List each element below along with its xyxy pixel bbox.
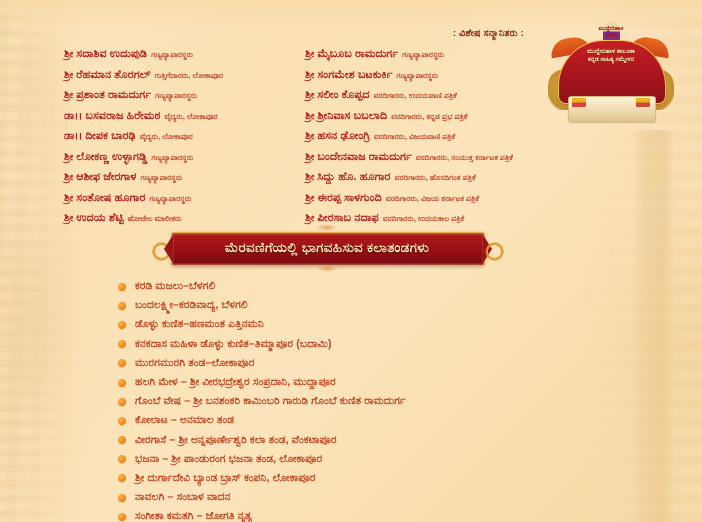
troupe-label: ಹಲಗಿ ಮೇಳ – ಶ್ರೀ ವೀರಭದ್ರೇಶ್ವರ ಸಂಪ್ರದಾನಿ, … bbox=[135, 376, 336, 389]
honouree-row: ಡಾ।।ದೀಪಕ ಬಾರಢಿವೈದ್ಯರು, ಲೋಕಾಪೂರ bbox=[64, 130, 297, 151]
bullet-icon bbox=[118, 474, 126, 482]
section-banner-title: ಮೆರವಣಿಗೆಯಲ್ಲಿ ಭಾಗವಹಿಸುವ ಕಲಾತಂಡಗಳು bbox=[171, 232, 483, 264]
troupe-item: ವೀರಗಾಸೆ – ಶ್ರೀ ಅನ್ನಪೂರ್ಣೇಶ್ವರಿ ಕಲಾ ತಂಡ, … bbox=[118, 431, 588, 450]
troupe-item: ಬಂದಲಕ್ಷ್ಮೀ–ಕರಡಿವಾದ್ಯ, ಬೆಳಗಲಿ bbox=[118, 296, 588, 315]
honouree-row: ಶ್ರೀಸಂತೋಷ ಹೂಗಾರಗಣ್ಯವ್ಯಾಪಾರಸ್ಥರು bbox=[64, 192, 297, 213]
honouree-name: ಸಂತೋಷ ಹೂಗಾರ bbox=[76, 192, 145, 205]
troupe-label: ವೀರಗಾಸೆ – ಶ್ರೀ ಅನ್ನಪೂರ್ಣೇಶ್ವರಿ ಕಲಾ ತಂಡ, … bbox=[135, 434, 337, 447]
troupe-item: ನಾವಲಗಿ – ಸಂಬಾಳ ವಾದನ bbox=[118, 488, 588, 507]
honouree-row: ಶ್ರೀರೆಹಮಾನ ತೊರಗಲ್ಗುತ್ತಿಗೆದಾರರು, ಲೋಕಾಪೂರ bbox=[64, 69, 297, 90]
troupes-list: ಕರಡಿ ಮಜಲು–ಬೆಳಗಲಿಬಂದಲಕ್ಷ್ಮೀ–ಕರಡಿವಾದ್ಯ, ಬೆ… bbox=[118, 277, 588, 522]
honouree-row: ಶ್ರೀಸಿದ್ದು ಹೊ. ಹೂಗಾರವರದಿಗಾರರು, ಹೊಸದಿಗಂತ … bbox=[305, 171, 594, 192]
troupe-label: ಗೊಂಬೆ ವೇಷ – ಶ್ರೀ ಬನಶಂಕರಿ ಕಾಮಿಂಬರಿ ಗಾರುಡಿ… bbox=[135, 395, 406, 408]
honouree-name: ಬಂದೇನವಾಜ ರಾಮದುರ್ಗ bbox=[317, 151, 412, 164]
honouree-prefix: ಶ್ರೀ bbox=[64, 151, 73, 164]
troupe-item: ಕನಕದಾಸ ಮಹಿಳಾ ಡೊಳ್ಳು ಕುಣಿತ–ತಿಮ್ಮಾಪೂರ (ಬದಾ… bbox=[118, 335, 588, 354]
honouree-prefix: ಡಾ।। bbox=[64, 110, 82, 123]
honouree-name: ಹಸನ ಢೋಂಗ್ರಿ bbox=[317, 130, 370, 143]
honouree-name: ಬಸವರಾಜ ಹಿರೇಮಠ bbox=[85, 110, 160, 123]
honouree-row: ಶ್ರೀಈರಪ್ಪ ಸಾಳಗುಂದಿವರದಿಗಾರರು, ವಿಜಯ ಕರ್ನಾಟ… bbox=[305, 192, 594, 213]
honouree-designation: ಗಣ್ಯವ್ಯಾಪಾರಸ್ಥರು bbox=[396, 71, 438, 81]
side-panel-primary-text: ಮುದ್ದೇಬಿಹಾಳ ತಾಲೂಕಾ ಕನ್ನಡ ಸಾಹಿತ್ಯ ಸಮ್ಮೇಳನ… bbox=[680, 506, 696, 522]
honouree-row: ಶ್ರೀಪ್ರಶಾಂತ ರಾಮದುರ್ಗಗಣ್ಯವ್ಯಾಪಾರಸ್ಥರು bbox=[64, 89, 297, 110]
honouree-designation: ಗಣ್ಯವ್ಯಾಪಾರಸ್ಥರು bbox=[151, 50, 193, 60]
troupe-item: ಡೊಳ್ಳು ಕುಣಿತ–ಹಣಮಂತ ಎತ್ತಿನಮನಿ bbox=[118, 315, 588, 334]
troupe-item: ಸಂಗೀತಾ ಕಮತಗಿ – ಜೋಗತಿ ನೃತ್ಯ bbox=[118, 507, 588, 522]
honouree-prefix: ಶ್ರೀ bbox=[64, 69, 73, 82]
honouree-prefix: ಶ್ರೀ bbox=[305, 110, 314, 123]
flag-right-icon bbox=[636, 98, 650, 107]
troupe-label: ಕರಡಿ ಮಜಲು–ಬೆಳಗಲಿ bbox=[135, 280, 215, 293]
bullet-icon bbox=[118, 436, 126, 444]
honouree-prefix: ಶ್ರೀ bbox=[64, 192, 73, 205]
bullet-icon bbox=[118, 321, 126, 329]
troupe-item: ಮುರಗಮುರಗಿ ತಂಡ–ಲೋಕಾಪೂರ bbox=[118, 354, 588, 373]
honouree-name: ಉದಯ ಶೆಟ್ಟಿ bbox=[76, 212, 123, 225]
honouree-designation: ಗುತ್ತಿಗೆದಾರರು, ಲೋಕಾಪೂರ bbox=[155, 71, 223, 81]
honouree-name: ಪ್ರಶಾಂತ ರಾಮದುರ್ಗ bbox=[76, 89, 151, 102]
honourees-header: : ವಿಶೇಷ ಸನ್ಮಾನಿತರು : bbox=[0, 28, 524, 39]
honouree-row: ಡಾ।।ಬಸವರಾಜ ಹಿರೇಮಠವೈದ್ಯರು, ಲೋಕಾಪೂರ bbox=[64, 110, 297, 131]
bullet-icon bbox=[118, 513, 126, 521]
troupe-item: ಶ್ರೀ ದುರ್ಗಾದೇವಿ ಬ್ಯಾಂಡ ಬ್ರಾಸ್ ಕಂಪನಿ, ಲೋಕ… bbox=[118, 469, 588, 488]
troupe-item: ಕೋಲಾಟ – ಅನಮಾಲ ತಂಡ bbox=[118, 411, 588, 430]
troupe-label: ಬಂದಲಕ್ಷ್ಮೀ–ಕರಡಿವಾದ್ಯ, ಬೆಳಗಲಿ bbox=[135, 299, 248, 312]
honouree-prefix: ಶ್ರೀ bbox=[305, 130, 314, 143]
bullet-icon bbox=[118, 359, 126, 367]
honouree-prefix: ಶ್ರೀ bbox=[64, 89, 73, 102]
troupe-label: ಭಜನಾ – ಶ್ರೀ ಪಾಂಡುರಂಗ ಭಜನಾ ತಂಡ, ಲೋಕಾಪೂರ bbox=[135, 453, 322, 466]
banner-ornament-bottom-icon bbox=[316, 265, 338, 272]
honouree-row: ಶ್ರೀಉದಯ ಶೆಟ್ಟಿಹೋಟೇಲ ಮಾಲೀಕರು bbox=[64, 212, 297, 233]
honouree-name: ಸಿದ್ದು ಹೊ. ಹೂಗಾರ bbox=[317, 171, 390, 184]
side-panel-band bbox=[632, 130, 676, 522]
bullet-icon bbox=[118, 417, 126, 425]
troupe-label: ಸಂಗೀತಾ ಕಮತಗಿ – ಜೋಗತಿ ನೃತ್ಯ bbox=[135, 510, 252, 522]
emblem-year: 2018 bbox=[548, 33, 674, 40]
honouree-name: ಲೋಕಣ್ಣ ಉಳ್ಳಾಗಡ್ಡಿ bbox=[76, 151, 147, 164]
honouree-prefix: ಶ್ರೀ bbox=[64, 171, 73, 184]
troupe-item: ಭಜನಾ – ಶ್ರೀ ಪಾಂಡುರಂಗ ಭಜನಾ ತಂಡ, ಲೋಕಾಪೂರ bbox=[118, 450, 588, 469]
honouree-row: ಶ್ರೀಮೈಬೂಬ ರಾಮದುರ್ಗಗಣ್ಯವ್ಯಾಪಾರಸ್ಥರು bbox=[305, 48, 594, 69]
honouree-designation: ವರದಿಗಾರರು, ಸಂಯುಕ್ತ ಕರ್ನಾಟಕ ಪತ್ರಿಕೆ bbox=[416, 153, 513, 163]
troupe-label: ಮುರಗಮುರಗಿ ತಂಡ–ಲೋಕಾಪೂರ bbox=[135, 357, 255, 370]
honouree-designation: ಹೋಟೇಲ ಮಾಲೀಕರು bbox=[128, 214, 182, 224]
honouree-prefix: ಶ್ರೀ bbox=[305, 69, 314, 82]
section-banner: ಮೆರವಣಿಗೆಯಲ್ಲಿ ಭಾಗವಹಿಸುವ ಕಲಾತಂಡಗಳು bbox=[153, 232, 501, 266]
honouree-prefix: ಶ್ರೀ bbox=[305, 192, 314, 205]
bullet-icon bbox=[118, 455, 126, 463]
honouree-designation: ಗಣ್ಯವ್ಯಾಪಾರಸ್ಥರು bbox=[140, 173, 182, 183]
emblem-scroll-text: ಮುದ್ದೇಬಿಹಾಳ 2018 bbox=[548, 26, 674, 40]
poster-canvas: ಮುದ್ದೇಬಿಹಾಳ ತಾಲೂಕಾ ಕನ್ನಡ ಸಾಹಿತ್ಯ ಸಮ್ಮೇಳನ… bbox=[0, 0, 702, 522]
honouree-designation: ಗಣ್ಯವ್ಯಾಪಾರಸ್ಥರು bbox=[155, 91, 197, 101]
troupe-label: ಕೋಲಾಟ – ಅನಮಾಲ ತಂಡ bbox=[135, 414, 234, 427]
honouree-row: ಶ್ರೀಆಶೀಫ ಜೇರಗಾಳಗಣ್ಯವ್ಯಾಪಾರಸ್ಥರು bbox=[64, 171, 297, 192]
honouree-row: ಶ್ರೀಸದಾಶಿವ ಉದುಪುಡಿಗಣ್ಯವ್ಯಾಪಾರಸ್ಥರು bbox=[64, 48, 297, 69]
honouree-designation: ವರದಿಗಾರರು, ಹೊಸದಿಗಂತ ಪತ್ರಿಕೆ bbox=[395, 173, 476, 183]
honouree-designation: ವರದಿಗಾರರು, ಉದಯಕಾಲ ಪತ್ರಿಕೆ bbox=[383, 214, 464, 224]
bullet-icon bbox=[118, 398, 126, 406]
honouree-prefix: ಶ್ರೀ bbox=[64, 212, 73, 225]
honouree-row: ಶ್ರೀಸಂಗಮೇಶ ಬಟಕುರ್ಕಿಗಣ್ಯವ್ಯಾಪಾರಸ್ಥರು bbox=[305, 69, 594, 90]
honouree-prefix: ಶ್ರೀ bbox=[305, 48, 314, 61]
honouree-prefix: ಶ್ರೀ bbox=[305, 151, 314, 164]
side-panel: ಮುದ್ದೇಬಿಹಾಳ ತಾಲೂಕಾ ಕನ್ನಡ ಸಾಹಿತ್ಯ ಸಮ್ಮೇಳನ… bbox=[598, 130, 702, 522]
troupe-label: ನಾವಲಗಿ – ಸಂಬಾಳ ವಾದನ bbox=[135, 491, 231, 504]
honouree-name: ಮೈಬೂಬ ರಾಮದುರ್ಗ bbox=[317, 48, 398, 61]
banner-ornament-top-icon bbox=[316, 224, 338, 231]
bullet-icon bbox=[118, 494, 126, 502]
honouree-prefix: ಶ್ರೀ bbox=[305, 212, 314, 225]
honouree-designation: ವರದಿಗಾರರು, ವಿಜಯವಾಣಿ ಪತ್ರಿಕೆ bbox=[374, 132, 455, 142]
bullet-icon bbox=[118, 379, 126, 387]
honouree-name: ಆಶೀಫ ಜೇರಗಾಳ bbox=[76, 171, 136, 184]
honouree-designation: ವರದಿಗಾರರು, ಉದಯವಾಣಿ ಪತ್ರಿಕೆ bbox=[374, 91, 457, 101]
honouree-row: ಶ್ರೀಸಲೀಂ ಕೊಪ್ಪದವರದಿಗಾರರು, ಉದಯವಾಣಿ ಪತ್ರಿಕ… bbox=[305, 89, 594, 110]
troupe-item: ಕರಡಿ ಮಜಲು–ಬೆಳಗಲಿ bbox=[118, 277, 588, 296]
banner-notch-right bbox=[483, 235, 492, 263]
honouree-name: ರೆಹಮಾನ ತೊರಗಲ್ bbox=[76, 69, 150, 82]
honouree-row: ಶ್ರೀಪೀರಸಾಬ ನದಾಫವರದಿಗಾರರು, ಉದಯಕಾಲ ಪತ್ರಿಕೆ bbox=[305, 212, 594, 233]
bullet-icon bbox=[118, 302, 126, 310]
honouree-row: ಶ್ರೀಲೋಕಣ್ಣ ಉಳ್ಳಾಗಡ್ಡಿಗಣ್ಯವ್ಯಾಪಾರಸ್ಥರು bbox=[64, 151, 297, 172]
honouree-name: ಈರಪ್ಪ ಸಾಳಗುಂದಿ bbox=[317, 192, 382, 205]
honouree-name: ಸಂಗಮೇಶ ಬಟಕುರ್ಕಿ bbox=[317, 69, 392, 82]
honouree-name: ಸದಾಶಿವ ಉದುಪುಡಿ bbox=[76, 48, 147, 61]
honourees-list: ಶ್ರೀಸದಾಶಿವ ಉದುಪುಡಿಗಣ್ಯವ್ಯಾಪಾರಸ್ಥರುಶ್ರೀರೆ… bbox=[64, 48, 594, 233]
honouree-prefix: ಡಾ।। bbox=[64, 130, 82, 143]
troupe-label: ಡೊಳ್ಳು ಕುಣಿತ–ಹಣಮಂತ ಎತ್ತಿನಮನಿ bbox=[135, 318, 264, 331]
honouree-row: ಶ್ರೀಶ್ರೀನಿವಾಸ ಬಬಲಾದಿವರದಿಗಾರರು, ಕನ್ನಡ ಪ್ರ… bbox=[305, 110, 594, 131]
honouree-designation: ಗಣ್ಯವ್ಯಾಪಾರಸ್ಥರು bbox=[151, 153, 193, 163]
honouree-designation: ವೈದ್ಯರು, ಲೋಕಾಪೂರ bbox=[140, 132, 193, 142]
honouree-row: ಶ್ರೀಹಸನ ಢೋಂಗ್ರಿವರದಿಗಾರರು, ವಿಜಯವಾಣಿ ಪತ್ರಿ… bbox=[305, 130, 594, 151]
honouree-row: ಶ್ರೀಬಂದೇನವಾಜ ರಾಮದುರ್ಗವರದಿಗಾರರು, ಸಂಯುಕ್ತ … bbox=[305, 151, 594, 172]
honouree-prefix: ಶ್ರೀ bbox=[305, 89, 314, 102]
bullet-icon bbox=[118, 340, 126, 348]
troupe-item: ಗೊಂಬೆ ವೇಷ – ಶ್ರೀ ಬನಶಂಕರಿ ಕಾಮಿಂಬರಿ ಗಾರುಡಿ… bbox=[118, 392, 588, 411]
honouree-name: ಶ್ರೀನಿವಾಸ ಬಬಲಾದಿ bbox=[317, 110, 387, 123]
honouree-designation: ವೈದ್ಯರು, ಲೋಕಾಪೂರ bbox=[164, 112, 217, 122]
honouree-designation: ಗಣ್ಯವ್ಯಾಪಾರಸ್ಥರು bbox=[149, 194, 191, 204]
honouree-designation: ವರದಿಗಾರರು, ಕನ್ನಡ ಪ್ರಭ ಪತ್ರಿಕೆ bbox=[391, 112, 467, 122]
honourees-column-right: ಶ್ರೀಮೈಬೂಬ ರಾಮದುರ್ಗಗಣ್ಯವ್ಯಾಪಾರಸ್ಥರುಶ್ರೀಸಂ… bbox=[305, 48, 594, 233]
honouree-name: ದೀಪಕ ಬಾರಢಿ bbox=[85, 130, 135, 143]
troupe-label: ಶ್ರೀ ದುರ್ಗಾದೇವಿ ಬ್ಯಾಂಡ ಬ್ರಾಸ್ ಕಂಪನಿ, ಲೋಕ… bbox=[135, 472, 316, 485]
honouree-prefix: ಶ್ರೀ bbox=[305, 171, 314, 184]
troupe-item: ಹಲಗಿ ಮೇಳ – ಶ್ರೀ ವೀರಭದ್ರೇಶ್ವರ ಸಂಪ್ರದಾನಿ, … bbox=[118, 373, 588, 392]
honourees-column-left: ಶ್ರೀಸದಾಶಿವ ಉದುಪುಡಿಗಣ್ಯವ್ಯಾಪಾರಸ್ಥರುಶ್ರೀರೆ… bbox=[64, 48, 297, 233]
honouree-name: ಸಲೀಂ ಕೊಪ್ಪದ bbox=[317, 89, 369, 102]
troupe-label: ಕನಕದಾಸ ಮಹಿಳಾ ಡೊಳ್ಳು ಕುಣಿತ–ತಿಮ್ಮಾಪೂರ (ಬದಾ… bbox=[135, 338, 332, 351]
honouree-designation: ಗಣ್ಯವ್ಯಾಪಾರಸ್ಥರು bbox=[402, 50, 444, 60]
honouree-prefix: ಶ್ರೀ bbox=[64, 48, 73, 61]
bullet-icon bbox=[118, 283, 126, 291]
honouree-designation: ವರದಿಗಾರರು, ವಿಜಯ ಕರ್ನಾಟಕ ಪತ್ರಿಕೆ bbox=[386, 194, 479, 204]
emblem-place: ಮುದ್ದೇಬಿಹಾಳ bbox=[548, 26, 674, 33]
